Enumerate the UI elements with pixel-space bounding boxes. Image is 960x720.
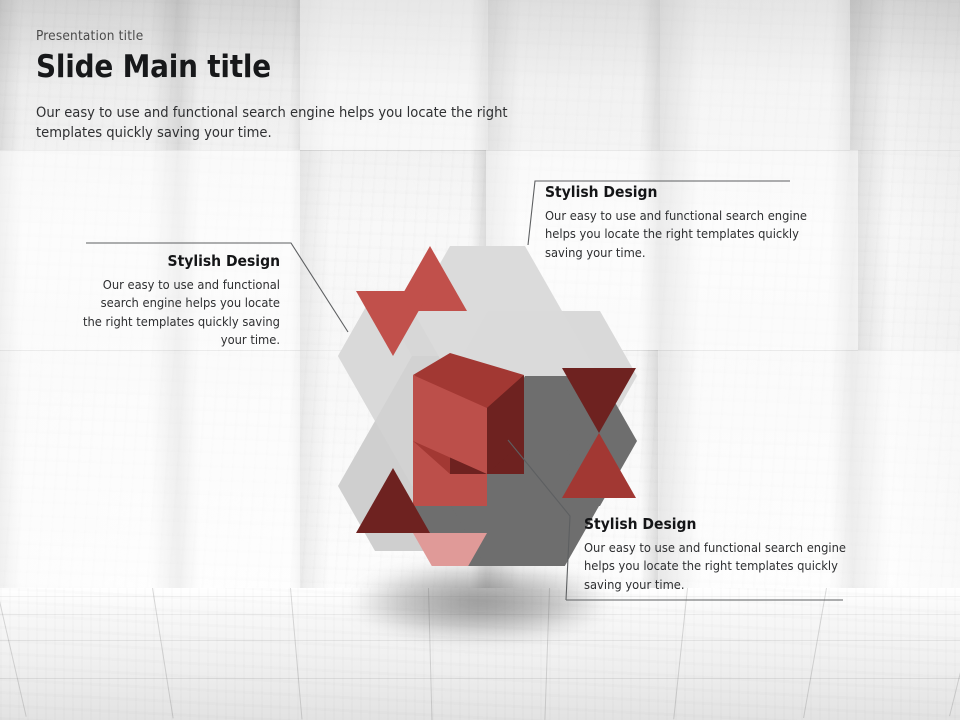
presentation-title: Presentation title	[36, 28, 656, 44]
wall-panel-c	[660, 0, 850, 150]
callout-left-body: Our easy to use and functional search en…	[80, 277, 280, 351]
callout-bottom-title: Stylish Design	[584, 515, 856, 534]
callout-left-title: Stylish Design	[80, 252, 280, 271]
callout-left[interactable]: Stylish Design Our easy to use and funct…	[80, 252, 280, 351]
slide-canvas: Presentation title Slide Main title Our …	[0, 0, 960, 720]
slide-header: Presentation title Slide Main title Our …	[36, 28, 656, 144]
callout-right-body: Our easy to use and functional search en…	[545, 208, 815, 264]
callout-right[interactable]: Stylish Design Our easy to use and funct…	[545, 183, 815, 263]
callout-bottom-body: Our easy to use and functional search en…	[584, 540, 856, 596]
wall-panel-lower-left	[0, 350, 300, 590]
slide-subtitle: Our easy to use and functional search en…	[36, 103, 576, 144]
page-title: Slide Main title	[36, 51, 656, 84]
callout-bottom[interactable]: Stylish Design Our easy to use and funct…	[584, 515, 856, 595]
wall-seam-top	[0, 150, 960, 151]
callout-right-title: Stylish Design	[545, 183, 815, 202]
